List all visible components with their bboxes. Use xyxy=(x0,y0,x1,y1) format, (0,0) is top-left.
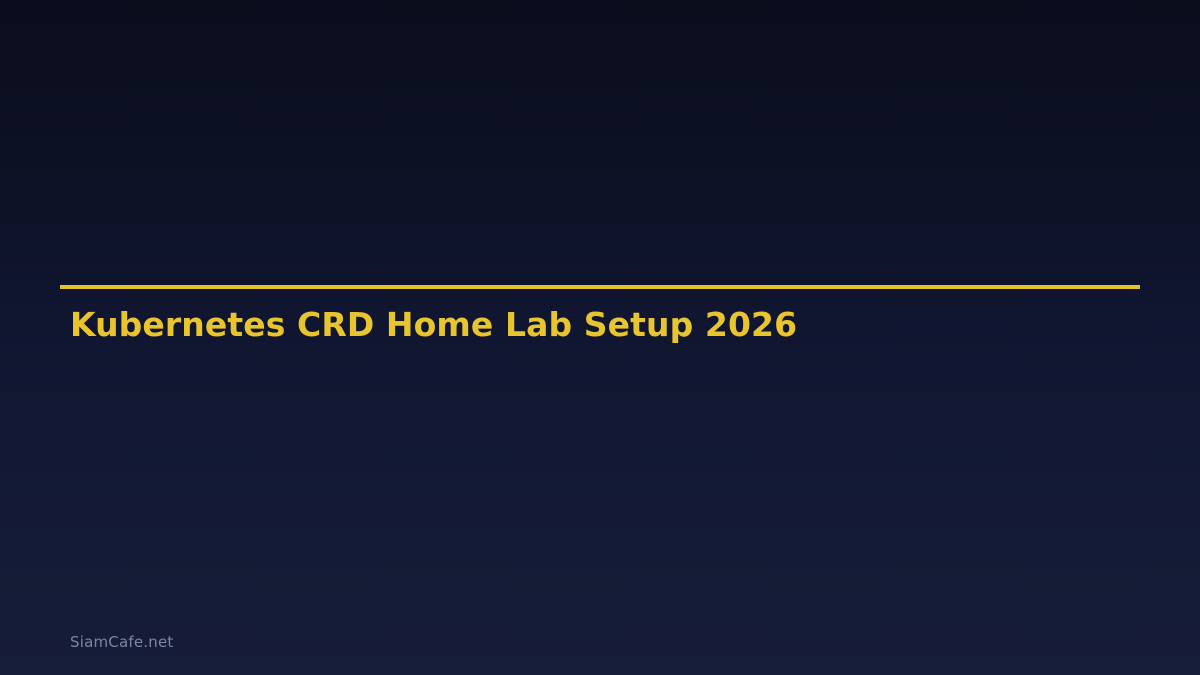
title-block: Kubernetes CRD Home Lab Setup 2026 xyxy=(60,285,1140,289)
gold-accent-bar xyxy=(60,285,1140,289)
footer-brand-label: SiamCafe.net xyxy=(70,633,173,651)
page-title: Kubernetes CRD Home Lab Setup 2026 xyxy=(70,307,797,343)
title-slide: Kubernetes CRD Home Lab Setup 2026 SiamC… xyxy=(0,0,1200,675)
